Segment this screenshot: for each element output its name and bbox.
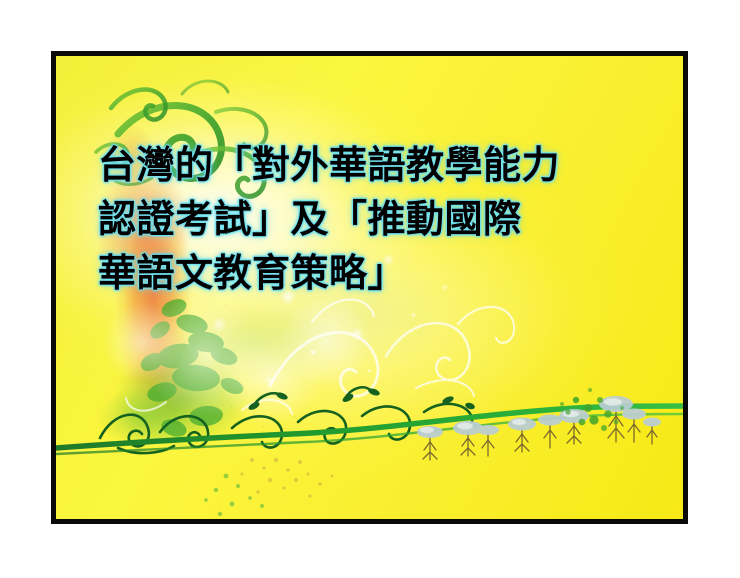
slide-root: 台灣的「對外華語教學能力 認證考試」及「推動國際 華語文教育策略」 xyxy=(0,0,740,578)
pale-bloom-circles xyxy=(102,294,372,426)
halftone-dots-green xyxy=(204,474,264,517)
green-horizon-line xyxy=(56,406,683,454)
slide-title: 台灣的「對外華語教學能力 認證考試」及「推動國際 華語文教育策略」 xyxy=(98,138,638,300)
title-line-1: 台灣的「對外華語教學能力 xyxy=(98,138,638,192)
slide-artwork-canvas: 台灣的「對外華語教學能力 認證考試」及「推動國際 華語文教育策略」 xyxy=(56,56,683,519)
slide-frame-border: 台灣的「對外華語教學能力 認證考試」及「推動國際 華語文教育策略」 xyxy=(51,51,688,524)
title-line-2: 認證考試」及「推動國際 xyxy=(98,192,638,246)
halftone-dots xyxy=(240,458,333,498)
title-line-3: 華語文教育策略」 xyxy=(98,246,638,300)
